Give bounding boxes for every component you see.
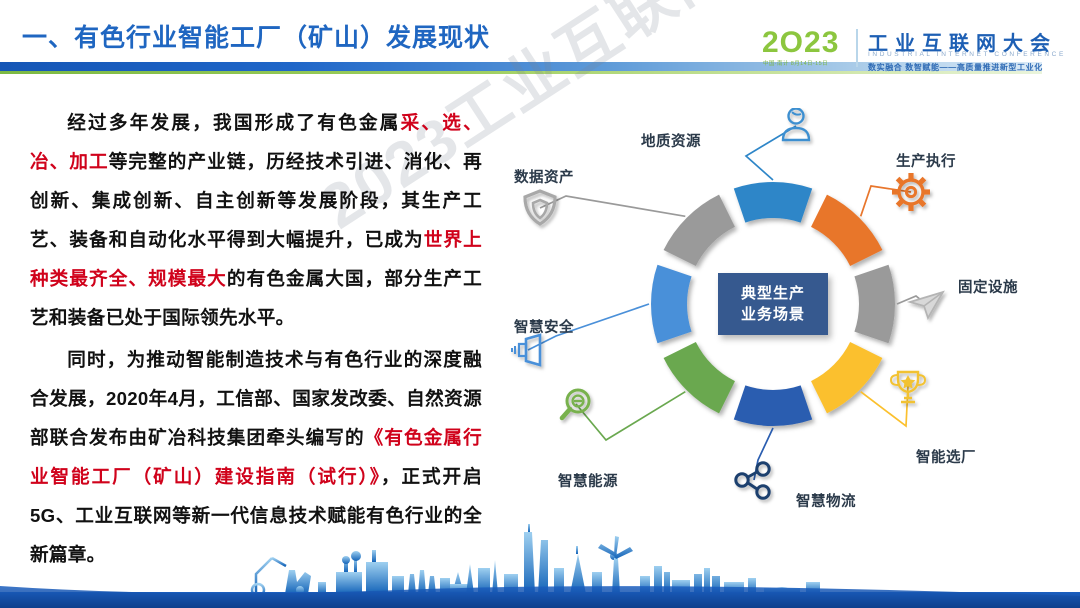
logo-tagline-cn: 数实融合 数智赋能——高质量推进新型工业化: [868, 62, 1043, 73]
segment-label-1: 地质资源: [641, 130, 701, 151]
logo-separator: [856, 29, 858, 67]
skyline-water: [0, 586, 1080, 608]
business-scenario-wheel: 典型生产 业务场景 地质资源生产执行固定设施智能选厂智慧物流智慧能源智慧安全数据…: [496, 108, 1080, 528]
segment-connector-8: [540, 196, 685, 216]
skyline-buildings: [285, 524, 820, 594]
skyline-robot-arm: [252, 558, 286, 596]
segment-connector-1: [746, 126, 796, 180]
page-title: 一、有色行业智能工厂（矿山）发展现状: [22, 18, 490, 54]
logo-year-subtitle: 中国·南计 8月14日-15日: [763, 59, 828, 67]
segment-label-7: 智慧安全: [514, 316, 574, 337]
segment-label-6: 智慧能源: [558, 470, 618, 491]
wheel-center-label: 典型生产 业务场景: [718, 273, 828, 335]
paragraph-1: 经过多年发展，我国形成了有色金属采、选、冶、加工等完整的产业链，历经技术引进、消…: [30, 103, 482, 337]
wheel-segment-6[interactable]: [664, 342, 735, 413]
segment-connector-6: [576, 392, 685, 440]
wheel-segment-7[interactable]: [651, 265, 692, 343]
skyline-svg: [0, 516, 1080, 608]
segment-connector-4: [861, 386, 908, 426]
wheel-segment-2[interactable]: [811, 195, 882, 266]
wheel-segment-5[interactable]: [734, 385, 812, 426]
segment-label-5: 智慧物流: [796, 490, 856, 511]
wheel-segment-1[interactable]: [734, 182, 812, 223]
share-nodes-icon: [736, 463, 769, 498]
logo-title-en: INDUSTRIAL INTERNET CONFERENCE: [868, 51, 1066, 58]
segment-label-4: 智能选厂: [916, 446, 976, 467]
person-icon: [783, 109, 809, 141]
city-skyline-graphic: [0, 516, 1080, 608]
conference-logo: 2O23 中国·南计 8月14日-15日 工业互联网大会 INDUSTRIAL …: [758, 26, 1076, 76]
body-text-block: 经过多年发展，我国形成了有色金属采、选、冶、加工等完整的产业链，历经技术引进、消…: [30, 103, 482, 574]
center-line-2: 业务场景: [741, 304, 805, 325]
segment-label-3: 固定设施: [958, 276, 1018, 297]
segment-label-2: 生产执行: [896, 150, 956, 171]
presentation-slide: 一、有色行业智能工厂（矿山）发展现状 2O23 中国·南计 8月14日-15日 …: [0, 0, 1080, 608]
wheel-segment-8[interactable]: [664, 195, 735, 266]
wheel-segment-3[interactable]: [854, 265, 895, 343]
wheel-segment-4[interactable]: [811, 342, 882, 413]
logo-year: 2O23: [762, 26, 839, 60]
megaphone-icon: [512, 335, 540, 365]
center-line-1: 典型生产: [741, 283, 805, 304]
text-run: 经过多年发展，我国形成了有色金属: [67, 112, 400, 133]
segment-label-8: 数据资产: [514, 166, 574, 187]
